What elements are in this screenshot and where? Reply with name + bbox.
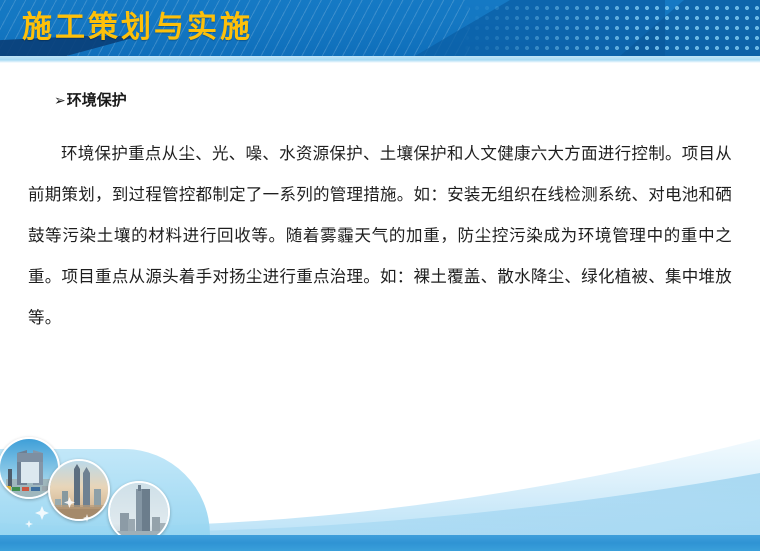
header-underline-strip bbox=[0, 56, 760, 63]
body-paragraph: 环境保护重点从尘、光、噪、水资源保护、土壤保护和人文健康六大方面进行控制。项目从… bbox=[28, 133, 732, 338]
presentation-slide: 施工策划与实施 ➢环境保护 环境保护重点从尘、光、噪、水资源保护、土壤保护和人文… bbox=[0, 0, 760, 551]
dot-grid-pattern bbox=[460, 0, 760, 56]
slide-content: ➢环境保护 环境保护重点从尘、光、噪、水资源保护、土壤保护和人文健康六大方面进行… bbox=[0, 72, 760, 338]
arrow-bullet-icon: ➢ bbox=[54, 93, 66, 109]
shanghai-skyline-photo bbox=[48, 459, 110, 521]
footer-bottom-bar bbox=[0, 535, 760, 551]
page-title: 施工策划与实施 bbox=[22, 4, 253, 52]
slide-footer-decoration bbox=[0, 431, 760, 551]
skyscraper-photo bbox=[108, 481, 170, 543]
section-heading: ➢环境保护 bbox=[54, 90, 760, 111]
section-heading-label: 环境保护 bbox=[67, 91, 127, 109]
slide-header-banner: 施工策划与实施 bbox=[0, 0, 760, 56]
